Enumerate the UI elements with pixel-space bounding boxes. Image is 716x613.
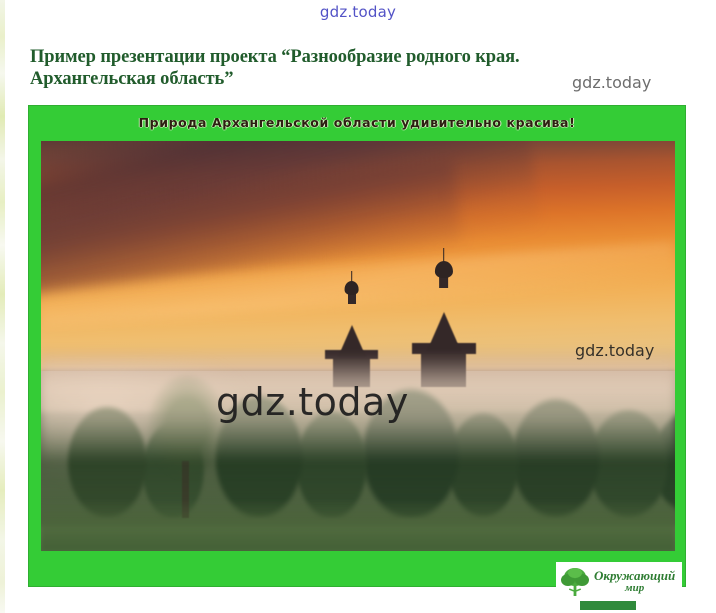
bottom-green-bar xyxy=(580,601,636,610)
presentation-slide: Природа Архангельской области удивительн… xyxy=(28,105,686,587)
page-title: Пример презентации проекта “Разнообразие… xyxy=(30,46,590,90)
brand-line-1: Окружающий xyxy=(594,569,675,582)
page-title-line-1: Пример презентации проекта “Разнообразие… xyxy=(30,47,520,67)
page-root: gdz.today Пример презентации проекта “Ра… xyxy=(0,0,716,613)
church-roof-right xyxy=(427,312,461,351)
church-dome-right xyxy=(435,261,453,278)
adjacent-page-sliver xyxy=(0,0,7,613)
church-cross-right xyxy=(443,248,445,262)
page-title-line-2: Архангельская область” xyxy=(30,68,590,90)
photo-foreground-grass xyxy=(41,502,675,551)
church-cross-left xyxy=(351,271,353,283)
church-dome-left xyxy=(344,281,359,295)
brand-line-2: мир xyxy=(594,582,675,595)
slide-title-bar: Природа Архангельской области удивительн… xyxy=(28,105,686,139)
heading-watermark: gdz.today xyxy=(572,73,651,92)
brand-logo: Окружающий мир xyxy=(556,562,682,602)
brand-text: Окружающий мир xyxy=(594,569,675,595)
slide-title: Природа Архангельской области удивительн… xyxy=(139,115,576,130)
tree-icon xyxy=(560,566,590,598)
photo-fog xyxy=(41,354,675,461)
top-watermark: gdz.today xyxy=(0,3,716,21)
slide-photo: gdz.today gdz.today gdz.today gdz.today xyxy=(41,141,675,551)
church-roof-left xyxy=(338,325,366,357)
